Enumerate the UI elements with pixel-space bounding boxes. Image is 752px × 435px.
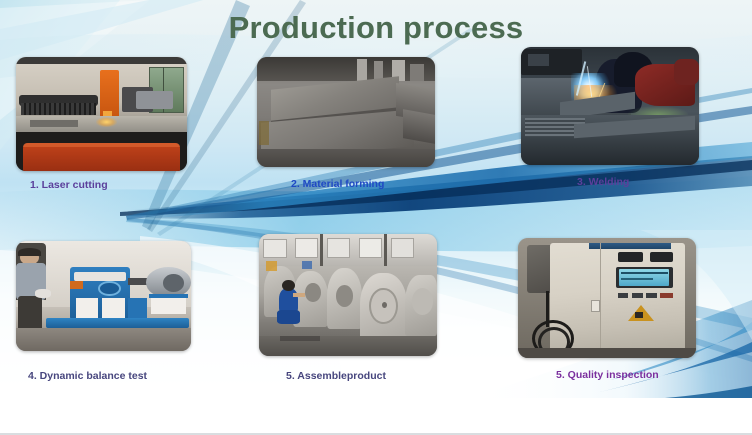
caption-material-forming: 2. Material forming bbox=[291, 178, 384, 190]
photo-laser-cutting[interactable] bbox=[16, 57, 187, 171]
page-title: Production process bbox=[0, 10, 752, 46]
caption-dynamic-balance-test: 4. Dynamic balance test bbox=[28, 370, 147, 382]
caption-welding: 3. Welding bbox=[577, 176, 629, 188]
photo-quality-inspection[interactable] bbox=[518, 238, 696, 358]
photo-assemble-product[interactable] bbox=[259, 234, 437, 356]
caption-assemble-product: 5. Assembleproduct bbox=[286, 370, 386, 382]
caption-laser-cutting: 1. Laser cutting bbox=[30, 179, 108, 191]
photo-welding[interactable] bbox=[521, 47, 699, 165]
photo-dynamic-balance-test[interactable] bbox=[16, 241, 191, 351]
caption-quality-inspection: 5. Quality inspection bbox=[556, 369, 659, 381]
photo-material-forming[interactable] bbox=[257, 57, 435, 167]
production-process-slide: Production process bbox=[0, 0, 752, 435]
